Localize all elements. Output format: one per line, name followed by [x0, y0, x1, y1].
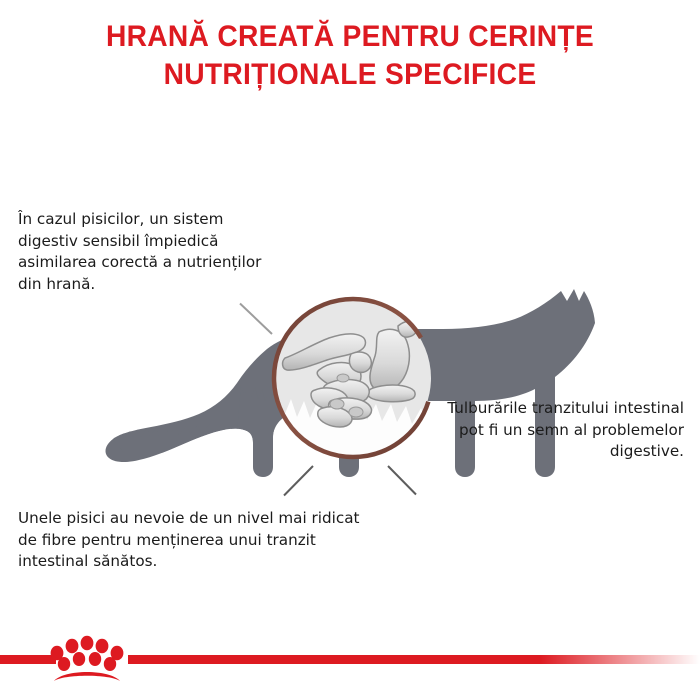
- callout-text-right: Tulburările tranzitului intestinal pot f…: [430, 398, 684, 463]
- callout-text-top-left: În cazul pisicilor, un sistem digestiv s…: [18, 209, 263, 295]
- magnifier-circle: [267, 292, 439, 464]
- callout-text-bottom-left: Unele pisici au nevoie de un nivel mai r…: [18, 508, 363, 573]
- brand-bar-right-segment: [128, 655, 700, 664]
- page-title-line-1: HRANĂ CREATĂ PENTRU CERINȚE: [21, 18, 679, 56]
- page-title: HRANĂ CREATĂ PENTRU CERINȚE NUTRIȚIONALE…: [21, 18, 679, 94]
- page-title-line-2: NUTRIȚIONALE SPECIFICE: [21, 56, 679, 94]
- infographic-root: HRANĂ CREATĂ PENTRU CERINȚE NUTRIȚIONALE…: [0, 0, 700, 700]
- royal-canin-crown-logo: [48, 632, 126, 684]
